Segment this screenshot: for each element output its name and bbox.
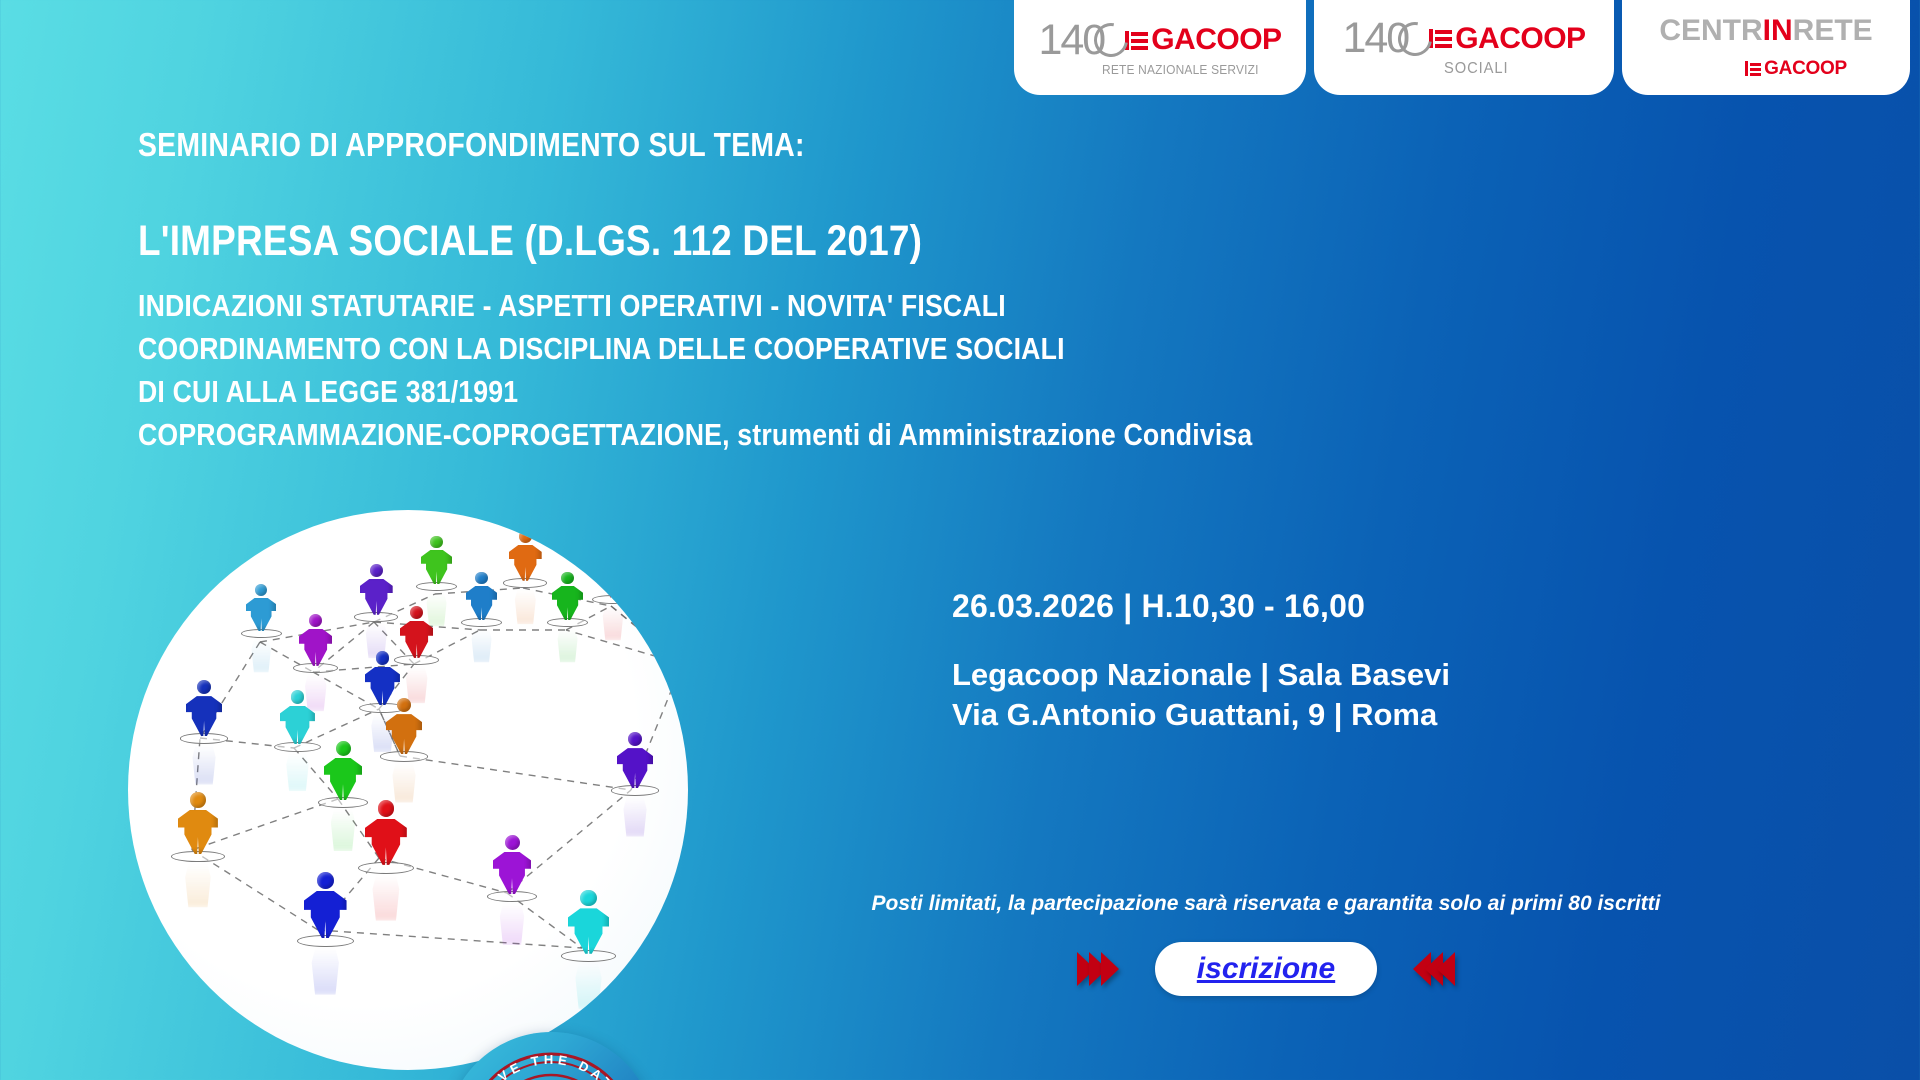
- subtitle-line-1: INDICAZIONI STATUTARIE - ASPETTI OPERATI…: [138, 286, 1548, 325]
- registration-link[interactable]: iscrizione: [1197, 952, 1335, 986]
- legacoop-brand-text: GACOOP: [1455, 24, 1585, 54]
- legacoop-e-glyph-icon: [1745, 61, 1763, 76]
- person-head: [336, 741, 351, 756]
- legacoop-brand-text: GACOOP: [1764, 58, 1847, 80]
- chevrons-right-icon: [1077, 952, 1113, 986]
- person-head: [475, 572, 487, 584]
- person-base-ellipse: [461, 618, 503, 627]
- subtitle-line-3: DI CUI ALLA LEGGE 381/1991: [138, 372, 1548, 411]
- event-info-block: 26.03.2026 | H.10,30 - 16,00 Legacoop Na…: [952, 588, 1450, 734]
- person-base-ellipse: [354, 612, 398, 621]
- legacoop-e-glyph-icon: [1125, 31, 1150, 50]
- legacoop-brand-mark: GACOOP: [1125, 25, 1281, 55]
- person-base-ellipse: [358, 862, 414, 874]
- logo-wordmark: 140 GACOOP: [1342, 17, 1585, 60]
- centrinrete-part2: RETE: [1793, 14, 1873, 47]
- event-venue: Legacoop Nazionale | Sala Basevi Via G.A…: [952, 655, 1450, 734]
- person-base-ellipse: [416, 582, 458, 591]
- person-base-ellipse: [380, 751, 428, 761]
- person-head: [580, 890, 596, 906]
- person-base-ellipse: [241, 629, 282, 638]
- logo-card-legacoop-rete-nazionale-servizi: 140 GACOOP RETE NAZIONALE SERVIZI: [1014, 0, 1306, 95]
- save-the-date-stamp: SAVE THE DATE SAVE THE DATE SAVE THE DAT…: [446, 1032, 656, 1080]
- limited-seats-notice: Posti limitati, la partecipazione sarà r…: [736, 892, 1796, 916]
- people-network-illustration: SAVE THE DATE SAVE THE DATE SAVE THE DAT…: [128, 510, 688, 1070]
- network-circle: [128, 510, 688, 1070]
- person-head: [190, 792, 206, 808]
- logo-bar: 140 GACOOP RETE NAZIONALE SERVIZI 140 GA…: [0, 0, 1920, 100]
- centrinrete-part1: CENTR: [1659, 14, 1762, 47]
- person-base-ellipse: [547, 618, 589, 627]
- person-base-ellipse: [318, 797, 369, 808]
- registration-button[interactable]: iscrizione: [1155, 942, 1377, 996]
- person-base-ellipse: [293, 663, 338, 673]
- person-head: [376, 651, 390, 665]
- person-head: [519, 530, 532, 543]
- person-base-ellipse: [180, 733, 228, 743]
- seminar-kicker: SEMINARIO DI APPROFONDIMENTO SUL TEMA:: [138, 128, 1548, 163]
- person-head: [607, 548, 620, 561]
- person-head: [678, 606, 688, 619]
- person-base-ellipse: [297, 935, 354, 947]
- page-title: L'IMPRESA SOCIALE (D.LGS. 112 DEL 2017): [138, 219, 1548, 264]
- venue-line-2: Via G.Antonio Guattani, 9 | Roma: [952, 695, 1450, 735]
- logo-subtitle: RETE NAZIONALE SERVIZI: [1102, 62, 1259, 77]
- person-head: [317, 872, 334, 889]
- person-base-ellipse: [503, 578, 547, 587]
- person-base-ellipse: [611, 785, 659, 795]
- logo-card-legacoop-sociali: 140 GACOOP SOCIALI: [1314, 0, 1614, 95]
- headline-block: SEMINARIO DI APPROFONDIMENTO SUL TEMA: L…: [138, 128, 1778, 454]
- legacoop-brand-mark: GACOOP: [1745, 58, 1847, 80]
- logo-card-centrinrete: CENTRINRETE GACOOP: [1622, 0, 1910, 95]
- centrinrete-wordmark: CENTRINRETE: [1659, 16, 1872, 46]
- legacoop-e-glyph-icon: [1429, 29, 1454, 48]
- centrinrete-highlight: IN: [1763, 14, 1793, 47]
- person-head: [561, 572, 573, 584]
- legacoop-brand-mark: GACOOP: [1429, 24, 1585, 54]
- venue-line-1: Legacoop Nazionale | Sala Basevi: [952, 655, 1450, 695]
- logo-wordmark: 140 GACOOP: [1038, 19, 1281, 62]
- person-base-ellipse: [394, 655, 439, 665]
- registration-cta-row: iscrizione: [736, 942, 1796, 996]
- person-base-ellipse: [274, 742, 321, 752]
- subtitle-line-2: COORDINAMENTO CON LA DISCIPLINA DELLE CO…: [138, 329, 1548, 368]
- person-head: [430, 536, 442, 548]
- person-head: [378, 800, 395, 817]
- chevrons-left-icon: [1419, 952, 1455, 986]
- logo-subtitle: SOCIALI: [1444, 60, 1509, 78]
- person-head: [505, 835, 520, 850]
- stamp-graphic: SAVE THE DATE SAVE THE DATE SAVE THE DAT…: [446, 1032, 656, 1080]
- event-datetime: 26.03.2026 | H.10,30 - 16,00: [952, 588, 1450, 625]
- subtitle-line-4: COPROGRAMMAZIONE-COPROGETTAZIONE, strume…: [138, 415, 1548, 454]
- person-head: [291, 690, 305, 704]
- person-base-ellipse: [487, 891, 538, 902]
- legacoop-brand-text: GACOOP: [1151, 25, 1281, 55]
- person-head: [370, 564, 383, 577]
